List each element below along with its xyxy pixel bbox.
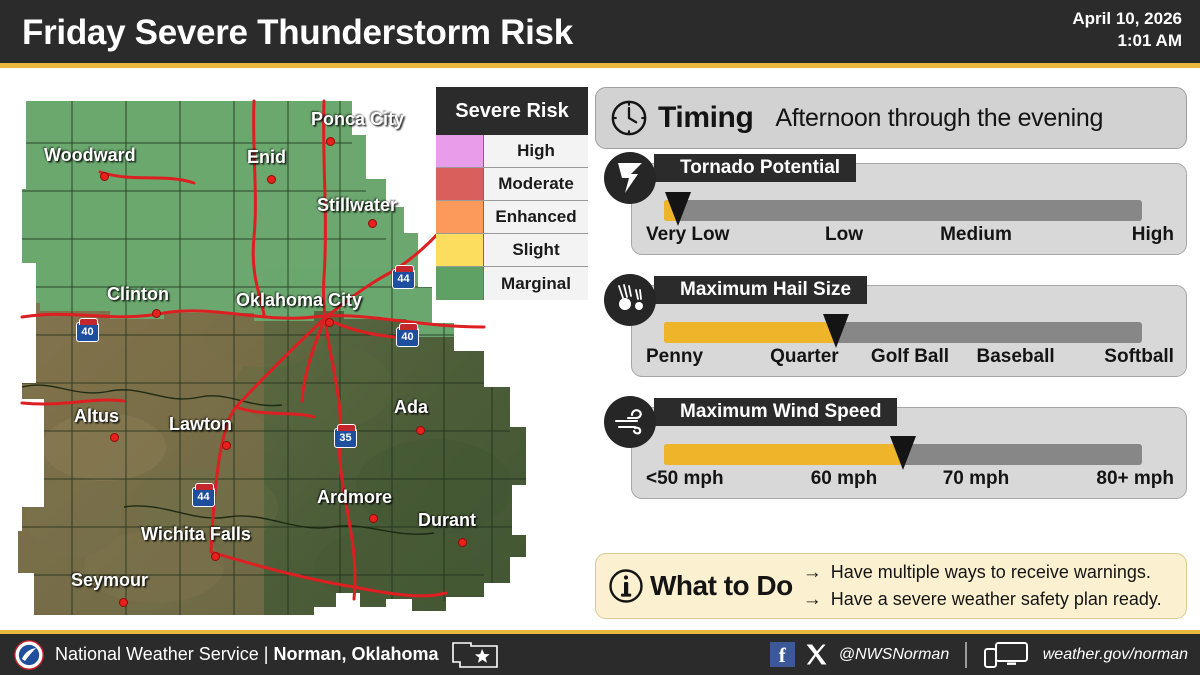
city-marker-dot xyxy=(326,137,335,146)
timing-panel: Timing Afternoon through the evening xyxy=(595,87,1187,149)
legend-label: Marginal xyxy=(484,267,588,300)
city-label: Seymour xyxy=(71,570,148,591)
city-marker-dot xyxy=(152,309,161,318)
risk-title: Maximum Wind Speed xyxy=(654,398,897,426)
city-label: Clinton xyxy=(107,284,169,305)
footer-left: National Weather Service | Norman, Oklah… xyxy=(14,634,501,675)
risk-bar-fill xyxy=(664,444,903,465)
what-to-do-label: What to Do xyxy=(650,570,793,602)
right-column: Timing Afternoon through the evening Tor… xyxy=(595,87,1187,619)
legend-row: Marginal xyxy=(436,267,588,300)
oklahoma-outline-icon xyxy=(451,640,501,670)
city-label: Ada xyxy=(394,397,428,418)
tornado-icon xyxy=(604,152,656,204)
hail-icon xyxy=(604,274,656,326)
city-marker-dot xyxy=(325,318,334,327)
city-label: Altus xyxy=(74,406,119,427)
footer-separator: | xyxy=(264,644,269,664)
body-area: WoodwardPonca CityEnidStillwaterClintonO… xyxy=(0,73,1200,630)
info-icon xyxy=(608,568,644,604)
city-marker-dot xyxy=(100,172,109,181)
timing-label: Timing xyxy=(658,101,753,135)
highway-shield: 40 xyxy=(76,322,99,342)
risk-bar-tick: Very Low xyxy=(646,224,778,250)
website-url[interactable]: weather.gov/norman xyxy=(1043,646,1188,664)
risk-panel-tornado: Tornado PotentialVery LowLowMediumHigh xyxy=(631,163,1187,255)
city-marker-dot xyxy=(110,433,119,442)
what-to-do-list: →Have multiple ways to receive warnings.… xyxy=(803,559,1162,614)
highway-shield: 44 xyxy=(192,487,215,507)
city-marker-dot xyxy=(222,441,231,450)
risk-bar-tick: Baseball xyxy=(963,346,1069,372)
city-marker-dot xyxy=(211,552,220,561)
city-marker-dot xyxy=(119,598,128,607)
highway-shield: 35 xyxy=(334,428,357,448)
legend-swatch xyxy=(436,267,484,300)
legend-row: High xyxy=(436,135,588,168)
city-marker-dot xyxy=(458,538,467,547)
noaa-logo-icon xyxy=(14,640,44,670)
footer-divider xyxy=(965,642,967,668)
city-marker-dot xyxy=(416,426,425,435)
risk-bar-tick: Golf Ball xyxy=(857,346,963,372)
risk-bar-marker xyxy=(890,436,916,470)
risk-bar-tick: Penny xyxy=(646,346,752,372)
legend-swatch xyxy=(436,234,484,266)
risk-bar-tick: Quarter xyxy=(752,346,858,372)
city-label: Wichita Falls xyxy=(141,524,251,545)
legend-swatch xyxy=(436,168,484,200)
city-label: Stillwater xyxy=(317,195,397,216)
highway-shield: 44 xyxy=(392,269,415,289)
risk-bar-tick: 60 mph xyxy=(778,468,910,494)
what-to-do-text: Have multiple ways to receive warnings. xyxy=(831,560,1151,586)
risk-bar-tick: Softball xyxy=(1068,346,1174,372)
legend-swatch xyxy=(436,201,484,233)
risk-panel-hail: Maximum Hail SizePennyQuarterGolf BallBa… xyxy=(631,285,1187,377)
severe-risk-legend: Severe Risk HighModerateEnhancedSlightMa… xyxy=(436,87,588,300)
legend-rows: HighModerateEnhancedSlightMarginal xyxy=(436,135,588,300)
risk-title: Maximum Hail Size xyxy=(654,276,867,304)
devices-icon xyxy=(983,641,1031,669)
wind-icon xyxy=(604,396,656,448)
what-to-do-item: →Have multiple ways to receive warnings. xyxy=(803,559,1162,586)
risk-bar-tick: 70 mph xyxy=(910,468,1042,494)
risk-bar-marker xyxy=(665,192,691,226)
arrow-right-icon: → xyxy=(803,586,822,613)
risk-bar-ticks: PennyQuarterGolf BallBaseballSoftball xyxy=(646,346,1174,372)
arrow-right-icon: → xyxy=(803,559,822,586)
header-date: April 10, 2026 xyxy=(1072,8,1182,30)
city-marker-dot xyxy=(369,514,378,523)
city-label: Oklahoma City xyxy=(236,290,362,311)
legend-label: Moderate xyxy=(484,168,588,200)
risk-bar-fill xyxy=(664,322,836,343)
infographic-page: Friday Severe Thunderstorm Risk April 10… xyxy=(0,0,1200,675)
facebook-icon[interactable]: f xyxy=(770,642,795,667)
page-title: Friday Severe Thunderstorm Risk xyxy=(22,13,573,53)
footer-right: f @NWSNorman weather.gov/norman xyxy=(770,634,1188,675)
city-label: Lawton xyxy=(169,414,232,435)
what-to-do-text: Have a severe weather safety plan ready. xyxy=(831,587,1162,613)
legend-title: Severe Risk xyxy=(436,87,588,135)
what-to-do-item: →Have a severe weather safety plan ready… xyxy=(803,586,1162,613)
city-label: Woodward xyxy=(44,145,136,166)
what-to-do-panel: What to Do →Have multiple ways to receiv… xyxy=(595,553,1187,619)
footer-office: Norman, Oklahoma xyxy=(273,644,438,664)
risk-bar-ticks: Very LowLowMediumHigh xyxy=(646,224,1174,250)
legend-label: Enhanced xyxy=(484,201,588,233)
legend-row: Enhanced xyxy=(436,201,588,234)
city-marker-dot xyxy=(267,175,276,184)
header-time: 1:01 AM xyxy=(1072,30,1182,52)
risk-bar-tick: <50 mph xyxy=(646,468,778,494)
legend-label: Slight xyxy=(484,234,588,266)
header-datetime: April 10, 2026 1:01 AM xyxy=(1072,8,1182,52)
timing-value: Afternoon through the evening xyxy=(775,104,1103,133)
x-twitter-icon[interactable] xyxy=(804,642,829,667)
highway-shield: 40 xyxy=(396,327,419,347)
risk-bar-tick: Medium xyxy=(910,224,1042,250)
city-label: Enid xyxy=(247,147,286,168)
risk-panel-wind: Maximum Wind Speed<50 mph60 mph70 mph80+… xyxy=(631,407,1187,499)
risk-bar-tick: 80+ mph xyxy=(1042,468,1174,494)
legend-label: High xyxy=(484,135,588,167)
city-label: Durant xyxy=(418,510,476,531)
city-label: Ponca City xyxy=(311,109,404,130)
risk-bar-tick: Low xyxy=(778,224,910,250)
risk-title: Tornado Potential xyxy=(654,154,856,182)
social-handle[interactable]: @NWSNorman xyxy=(839,646,949,664)
legend-swatch xyxy=(436,135,484,167)
risk-bar-ticks: <50 mph60 mph70 mph80+ mph xyxy=(646,468,1174,494)
city-label: Ardmore xyxy=(317,487,392,508)
header-bar: Friday Severe Thunderstorm Risk April 10… xyxy=(0,0,1200,68)
footer-agency: National Weather Service xyxy=(55,644,259,664)
clock-icon xyxy=(610,99,648,137)
legend-row: Moderate xyxy=(436,168,588,201)
risk-bar-track[interactable] xyxy=(664,322,1142,343)
legend-row: Slight xyxy=(436,234,588,267)
footer-agency-text: National Weather Service | Norman, Oklah… xyxy=(55,644,439,665)
footer-bar: National Weather Service | Norman, Oklah… xyxy=(0,630,1200,675)
risk-bar-tick: High xyxy=(1042,224,1174,250)
city-marker-dot xyxy=(368,219,377,228)
risk-bar-track[interactable] xyxy=(664,200,1142,221)
risk-bar-marker xyxy=(823,314,849,348)
